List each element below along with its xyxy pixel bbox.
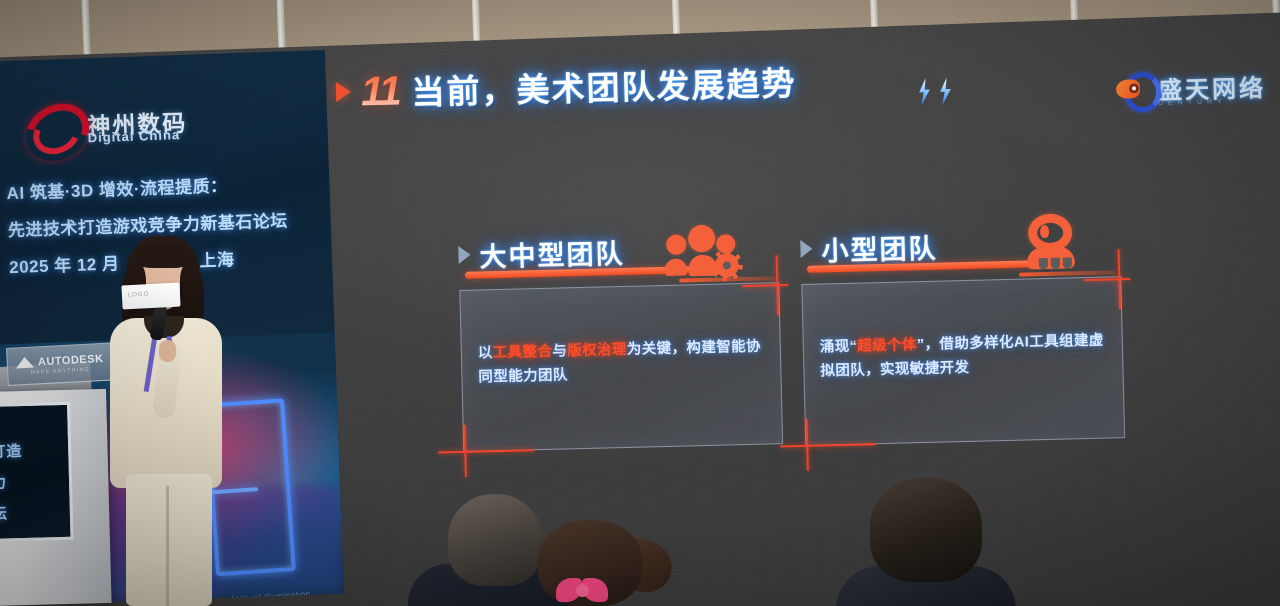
sponsor-subtext: CENTURY <box>1158 98 1227 107</box>
podium-screen-line: 争力 <box>0 470 69 493</box>
corner-accent-bottom-left <box>438 424 499 477</box>
text-segment: 与 <box>552 343 567 359</box>
lightning-bolt-icon <box>937 78 955 105</box>
lightning-bolt-icon-group <box>916 78 955 106</box>
triangle-right-icon <box>800 240 812 258</box>
podium-screen-line: 术打造 <box>0 439 68 462</box>
text-segment: 以 <box>478 345 493 361</box>
speaker-trousers <box>126 474 212 606</box>
audience-member <box>836 478 1016 606</box>
content-box-text: 涌现“超级个体”，借助多样化AI工具组建虚拟团队，实现敏捷开发 <box>820 329 1111 384</box>
triangle-right-icon <box>336 82 351 102</box>
slide-title-text: 当前，美术团队发展趋势 <box>411 57 797 114</box>
speaker-person: LOGO <box>104 236 224 606</box>
hair-bow <box>556 578 610 602</box>
slide-number: 11 <box>360 67 402 115</box>
swirl-logo-icon <box>21 101 79 151</box>
triangle-right-icon <box>458 246 470 264</box>
banner-line-1: AI 筑基·3D 增效·流程提质： <box>6 169 312 205</box>
slide-title: 11 当前，美术团队发展趋势 <box>335 57 797 116</box>
microphone-flag-text: LOGO <box>128 291 150 298</box>
corner-accent-bottom-left <box>780 418 841 471</box>
autodesk-brand: AUTODESK <box>38 352 104 367</box>
column-large-medium-team: 大中型团队 以工具整合与版权治理为关键，构建智能协同型能力团队 <box>458 228 781 452</box>
highlight-segment: 工具整合 <box>493 344 553 361</box>
lightning-bolt-icon <box>916 78 934 105</box>
people-gear-icon <box>664 221 739 277</box>
audience-member <box>520 510 670 606</box>
autodesk-sign: AUTODESK MAKE ANYTHING <box>6 342 114 385</box>
astronaut-icon <box>1022 213 1079 270</box>
fish-swirl-logo-icon <box>1116 72 1152 106</box>
highlight-segment: 版权治理 <box>567 342 627 359</box>
content-box: 涌现“超级个体”，借助多样化AI工具组建虚拟团队，实现敏捷开发 <box>801 276 1125 446</box>
podium-screen: 术打造 争力 论坛 <box>0 402 74 542</box>
column-small-team: 小型团队 涌现“超级个体”，借助多样化AI工具组建虚拟团队，实现敏捷开发 <box>800 222 1123 446</box>
autodesk-triangle-icon <box>16 357 35 369</box>
highlight-segment: 超级个体 <box>857 337 917 354</box>
column-heading-text: 小型团队 <box>821 226 938 268</box>
content-box-text: 以工具整合与版权治理为关键，构建智能协同型能力团队 <box>478 335 769 390</box>
content-box: 以工具整合与版权治理为关键，构建智能协同型能力团队 <box>459 282 783 452</box>
conference-photo-stage: 11 当前，美术团队发展趋势 盛天网络 CENTURY 大中型团队 <box>0 0 1280 606</box>
text-segment: 涌现“ <box>820 339 858 356</box>
podium-screen-line: 论坛 <box>0 501 70 524</box>
